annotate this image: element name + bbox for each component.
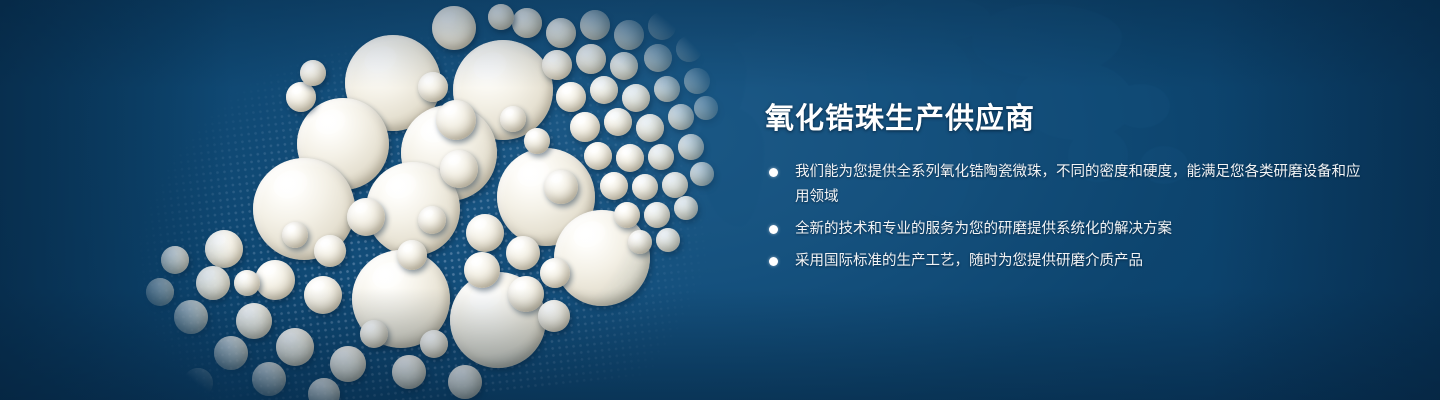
page-title: 氧化锆珠生产供应商	[765, 104, 1365, 136]
bullet-dot-icon	[769, 168, 778, 177]
list-item: 我们能为您提供全系列氧化锆陶瓷微珠，不同的密度和硬度，能满足您各类研磨设备和应用…	[765, 160, 1365, 210]
feature-bullet-list: 我们能为您提供全系列氧化锆陶瓷微珠，不同的密度和硬度，能满足您各类研磨设备和应用…	[765, 160, 1365, 274]
hero-banner: 氧化锆珠生产供应商 我们能为您提供全系列氧化锆陶瓷微珠，不同的密度和硬度，能满足…	[0, 0, 1440, 400]
list-item: 全新的技术和专业的服务为您的研磨提供系统化的解决方案	[765, 217, 1365, 242]
list-item: 采用国际标准的生产工艺，随时为您提供研磨介质产品	[765, 249, 1365, 274]
bullet-dot-icon	[769, 257, 778, 266]
list-item-label: 我们能为您提供全系列氧化锆陶瓷微珠，不同的密度和硬度，能满足您各类研磨设备和应用…	[795, 164, 1361, 205]
list-item-label: 采用国际标准的生产工艺，随时为您提供研磨介质产品	[795, 253, 1143, 269]
list-item-label: 全新的技术和专业的服务为您的研磨提供系统化的解决方案	[795, 221, 1172, 237]
bullet-dot-icon	[769, 225, 778, 234]
banner-copy-block: 氧化锆珠生产供应商 我们能为您提供全系列氧化锆陶瓷微珠，不同的密度和硬度，能满足…	[765, 104, 1365, 274]
